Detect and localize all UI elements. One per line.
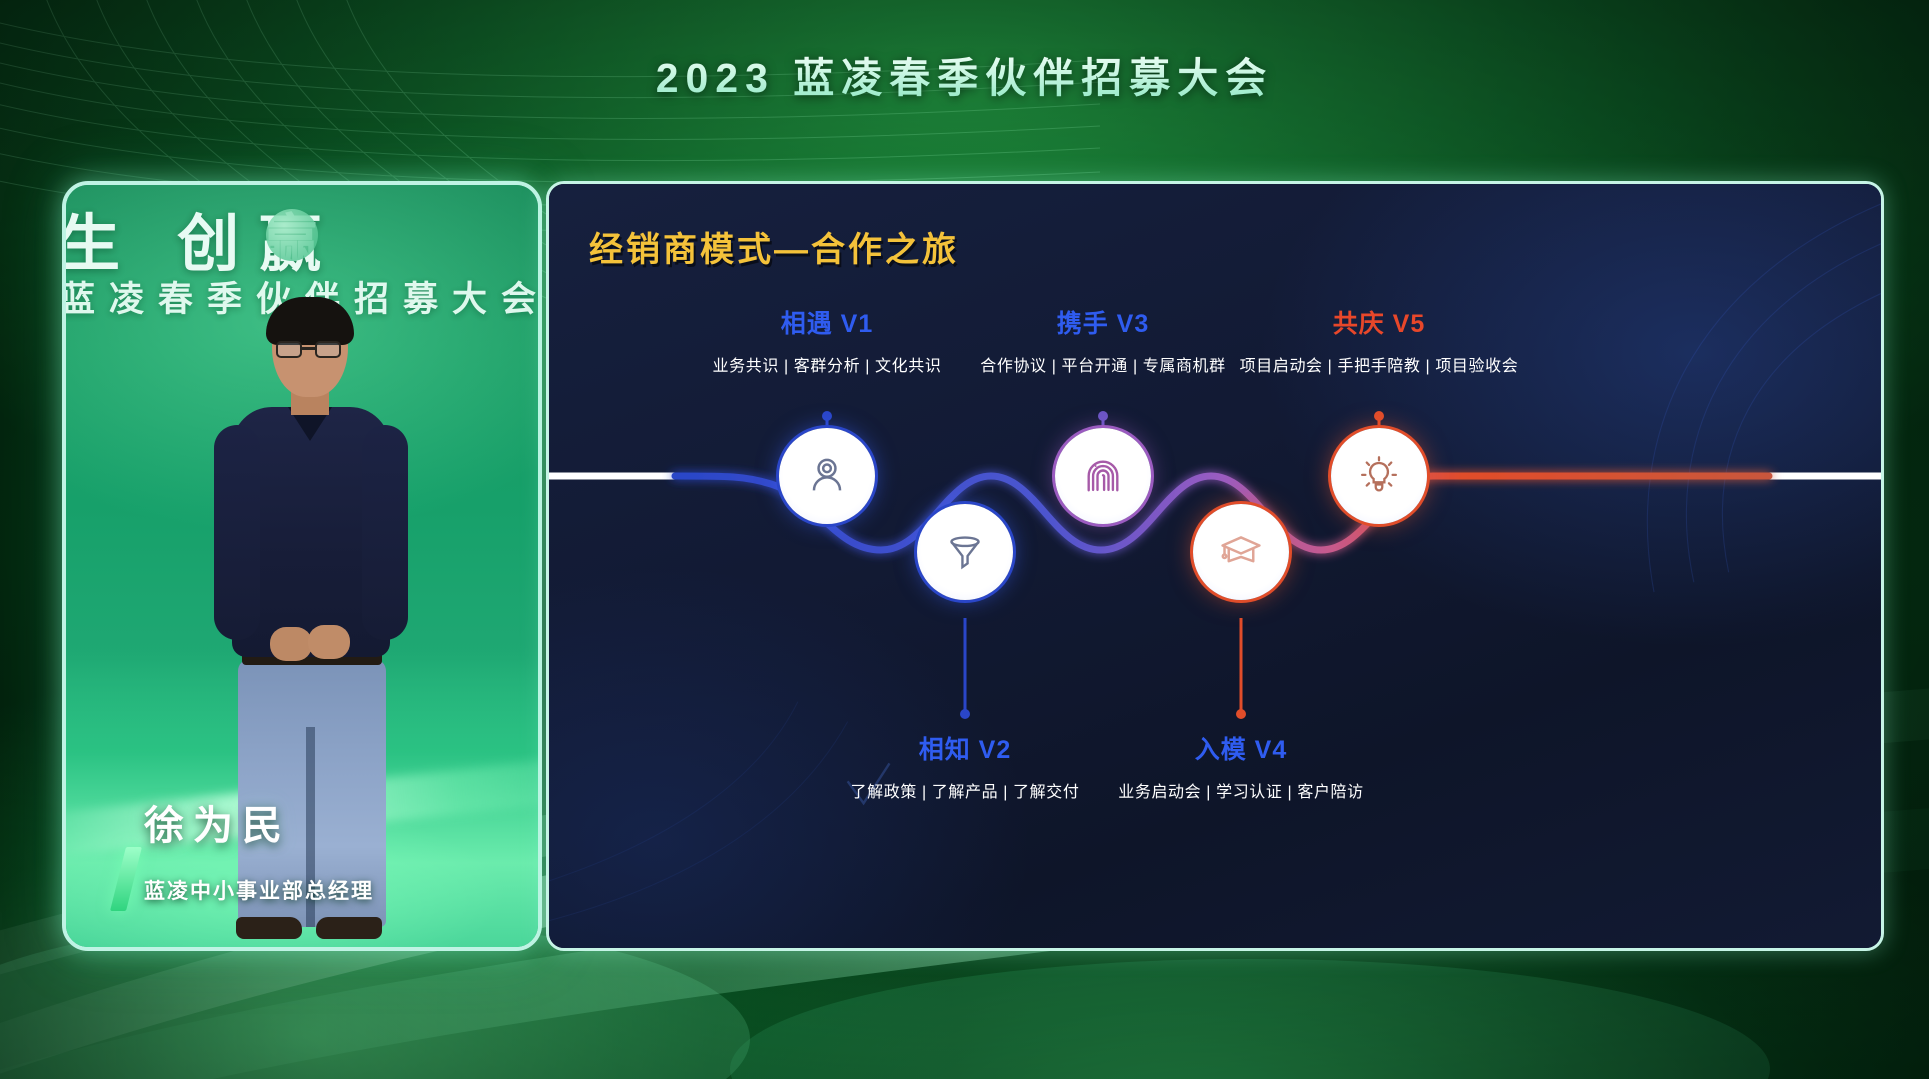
page-title: 2023 蓝凌春季伙伴招募大会 [656,44,1274,104]
figure-glasses-left [276,341,302,358]
fingerprint-icon [1081,454,1125,498]
figure-hair [266,297,354,345]
timeline-node-v3[interactable] [1055,428,1151,524]
timeline-node-v4[interactable] [1193,504,1289,600]
figure-glasses-bridge [302,347,315,350]
milestone-subtitle-v5: 项目启动会 | 手把手陪教 | 项目验收会 [1209,352,1549,376]
milestone-title-v4: 入模 V4 [1071,730,1411,766]
speaker-role: 蓝凌中小事业部总经理 [144,875,374,905]
milestone-label-v5: 共庆 V5 项目启动会 | 手把手陪教 | 项目验收会 [1209,304,1549,376]
presentation-slide-panel[interactable]: 经销商模式—合作之旅 [546,181,1884,951]
speaker-name: 徐为民 [144,793,291,851]
timeline-node-v5[interactable] [1331,428,1427,524]
speaker-video-panel[interactable]: 生 创赢 蓝凌春季伙伴招募大会 徐为民 蓝凌中小事业部总经理 [62,181,542,951]
figure-glasses-right [315,341,341,358]
graduation-cap-icon [1218,529,1264,575]
speaker-nameplate: 徐为民 蓝凌中小事业部总经理 [66,747,542,947]
stage-backdrop-dot [266,209,318,261]
event-header: 2023 蓝凌春季伙伴招募大会 [0,44,1929,104]
lightbulb-icon [1356,453,1402,499]
figure-hand-right [308,625,350,659]
milestone-subtitle-v4: 业务启动会 | 学习认证 | 客户陪访 [1071,778,1411,802]
funnel-icon [943,530,987,574]
timeline-node-v1[interactable] [779,428,875,524]
milestone-label-v4: 入模 V4 业务启动会 | 学习认证 | 客户陪访 [1071,730,1411,802]
figure-hand-left [270,627,312,661]
person-icon [804,453,850,499]
timeline-diagram: 相遇 V1 业务共识 | 客群分析 | 文化共识 携手 V3 合作协议 | 平台… [549,184,1884,951]
figure-arm-left [214,425,260,640]
milestone-title-v5: 共庆 V5 [1209,304,1549,340]
nameplate-accent-bar [110,847,142,911]
figure-arm-right [362,425,408,640]
timeline-node-v2[interactable] [917,504,1013,600]
